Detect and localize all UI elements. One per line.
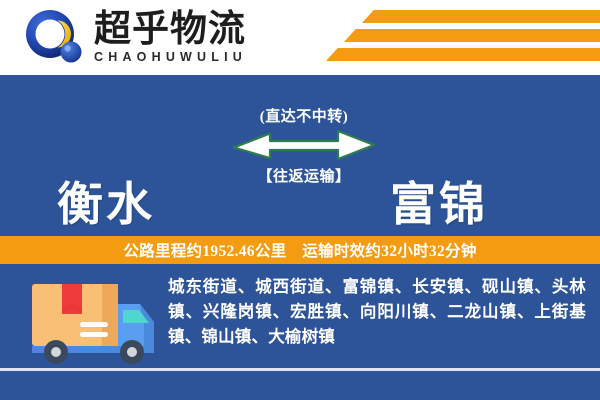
distance-duration-bar: 公路里程约1952.46公里 运输时效约32小时32分钟 <box>0 236 600 264</box>
coverage-section: 城东街道、城西街道、富锦镇、长安镇、砚山镇、头林镇、兴隆岗镇、宏胜镇、向阳川镇、… <box>0 264 600 400</box>
bidirectional-arrow-icon <box>230 128 378 162</box>
stripe-3 <box>326 48 600 61</box>
delivery-truck-icon <box>28 278 158 366</box>
brand-name-cn: 超乎物流 <box>94 11 247 49</box>
route-middle: (直达不中转) 【往返运输】 <box>230 105 378 186</box>
origin-city: 衡水 <box>57 168 155 234</box>
brand-name-en: CHAOHUWULIU <box>94 50 247 65</box>
brand-text: 超乎物流 CHAOHUWULIU <box>94 9 247 66</box>
route-band: 衡水 (直达不中转) 【往返运输】 富锦 <box>0 75 600 236</box>
circular-q-logo-icon <box>24 7 86 67</box>
stripe-1 <box>362 10 600 23</box>
distance-duration-text: 公路里程约1952.46公里 运输时效约32小时32分钟 <box>123 239 476 261</box>
header: 超乎物流 CHAOHUWULIU <box>0 0 600 75</box>
decorative-stripes <box>330 8 600 70</box>
stripe-2 <box>344 29 600 42</box>
logistics-route-poster: 超乎物流 CHAOHUWULIU 衡水 (直达不中转) 【往返运输】 富锦 公路… <box>0 0 600 400</box>
covered-towns-list: 城东街道、城西街道、富锦镇、长安镇、砚山镇、头林镇、兴隆岗镇、宏胜镇、向阳川镇、… <box>168 274 586 349</box>
destination-city: 富锦 <box>390 168 488 234</box>
footer-divider <box>0 368 600 371</box>
direct-service-note: (直达不中转) <box>230 105 378 126</box>
brand-lockup: 超乎物流 CHAOHUWULIU <box>24 7 247 67</box>
round-trip-note: 【往返运输】 <box>230 165 378 186</box>
